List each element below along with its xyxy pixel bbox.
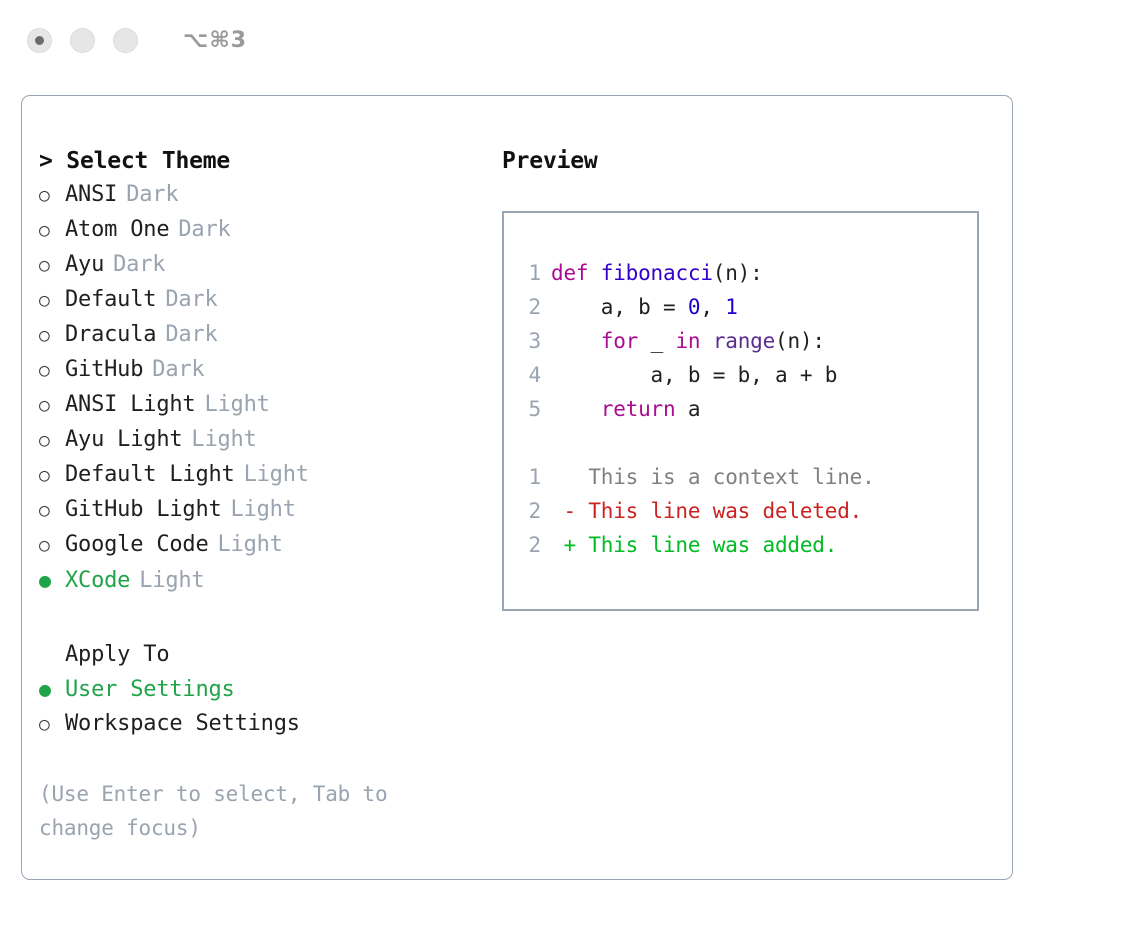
theme-option-label: Atom One: [65, 213, 169, 247]
theme-option-6[interactable]: ○ANSI LightLight: [39, 388, 502, 423]
theme-option-label: ANSI Light: [65, 388, 195, 422]
code-token: fibonacci: [601, 261, 713, 285]
apply-to-list[interactable]: ●User Settings○Workspace Settings: [39, 672, 502, 742]
radio-unselected-icon: ○: [39, 214, 65, 248]
code-line-number: 3: [504, 324, 551, 358]
radio-unselected-icon: ○: [39, 354, 65, 388]
preview-box: 1def fibonacci(n):2 a, b = 0, 13 for _ i…: [502, 211, 979, 611]
code-line-number: 1: [504, 256, 551, 290]
apply-to-header: Apply To: [39, 638, 502, 672]
code-line-number: 4: [504, 358, 551, 392]
code-diff-spacer: [504, 426, 977, 460]
theme-option-variant: Light: [235, 458, 309, 492]
window-dot-active-inner: [35, 36, 44, 45]
radio-unselected-icon: ○: [39, 424, 65, 458]
radio-unselected-icon: ○: [39, 389, 65, 423]
code-line-content: for _ in range(n):: [551, 324, 825, 358]
radio-unselected-icon: ○: [39, 494, 65, 528]
theme-selection-column: > Select Theme ○ANSIDark○Atom OneDark○Ay…: [22, 96, 502, 879]
apply-to-option-label: User Settings: [65, 673, 235, 707]
diff-line-number: 1: [504, 460, 551, 494]
code-token: 1: [725, 295, 737, 319]
theme-picker-panel: > Select Theme ○ANSIDark○Atom OneDark○Ay…: [21, 95, 1013, 880]
diff-preview: 1 This is a context line.2 - This line w…: [504, 460, 977, 562]
code-token: This is a context line.: [551, 465, 875, 489]
theme-option-label: XCode: [65, 564, 130, 598]
window-controls: [27, 28, 138, 53]
theme-option-variant: Light: [222, 493, 296, 527]
theme-option-7[interactable]: ○Ayu LightLight: [39, 423, 502, 458]
theme-option-label: GitHub: [65, 353, 143, 387]
window-dot-2-icon[interactable]: [70, 28, 95, 53]
code-token: [551, 329, 601, 353]
theme-option-variant: Light: [209, 528, 283, 562]
radio-unselected-icon: ○: [39, 284, 65, 318]
code-token: def: [551, 261, 601, 285]
code-token: in: [675, 329, 700, 353]
diff-line-0: 1 This is a context line.: [504, 460, 977, 494]
radio-selected-icon: ●: [39, 672, 65, 706]
theme-option-11[interactable]: ●XCodeLight: [39, 563, 502, 598]
diff-line-content: + This line was added.: [551, 528, 837, 562]
theme-option-label: GitHub Light: [65, 493, 222, 527]
code-token: (n):: [713, 261, 763, 285]
theme-option-3[interactable]: ○DefaultDark: [39, 283, 502, 318]
radio-unselected-icon: ○: [39, 529, 65, 563]
theme-option-4[interactable]: ○DraculaDark: [39, 318, 502, 353]
code-token: for: [601, 329, 638, 353]
code-token: - This line was deleted.: [551, 499, 862, 523]
preview-column: Preview 1def fibonacci(n):2 a, b = 0, 13…: [502, 96, 1012, 879]
code-line-number: 2: [504, 290, 551, 324]
code-token: return: [601, 397, 676, 421]
code-line-3: 4 a, b = b, a + b: [504, 358, 977, 392]
code-token: (n):: [775, 329, 825, 353]
theme-list[interactable]: ○ANSIDark○Atom OneDark○AyuDark○DefaultDa…: [39, 178, 502, 598]
code-line-1: 2 a, b = 0, 1: [504, 290, 977, 324]
code-token: a: [675, 397, 700, 421]
theme-option-variant: Dark: [143, 353, 204, 387]
diff-line-2: 2 + This line was added.: [504, 528, 977, 562]
theme-option-10[interactable]: ○Google CodeLight: [39, 528, 502, 563]
theme-option-label: Default Light: [65, 458, 235, 492]
section-spacer: [39, 598, 502, 638]
diff-line-number: 2: [504, 528, 551, 562]
code-line-number: 5: [504, 392, 551, 426]
keyboard-shortcut-label: ⌥⌘3: [183, 28, 247, 53]
theme-option-variant: Light: [195, 388, 269, 422]
code-line-2: 3 for _ in range(n):: [504, 324, 977, 358]
theme-option-variant: Dark: [169, 213, 230, 247]
code-token: [551, 397, 601, 421]
keyboard-hint: (Use Enter to select, Tab to change focu…: [39, 777, 439, 845]
code-token: _: [638, 329, 675, 353]
window-titlebar: ⌥⌘3: [0, 0, 1140, 80]
window-dot-3-icon[interactable]: [113, 28, 138, 53]
radio-unselected-icon: ○: [39, 708, 65, 742]
radio-unselected-icon: ○: [39, 459, 65, 493]
code-line-content: return a: [551, 392, 700, 426]
radio-unselected-icon: ○: [39, 249, 65, 283]
theme-option-label: Ayu: [65, 248, 104, 282]
code-line-content: a, b = 0, 1: [551, 290, 738, 324]
window-dot-active-icon[interactable]: [27, 28, 52, 53]
code-line-content: a, b = b, a + b: [551, 358, 837, 392]
code-token: a, b =: [551, 295, 688, 319]
code-line-content: def fibonacci(n):: [551, 256, 763, 290]
theme-option-2[interactable]: ○AyuDark: [39, 248, 502, 283]
theme-option-label: ANSI: [65, 178, 117, 212]
code-token: ,: [700, 295, 725, 319]
code-token: [700, 329, 712, 353]
code-line-4: 5 return a: [504, 392, 977, 426]
theme-option-variant: Dark: [104, 248, 165, 282]
theme-option-label: Dracula: [65, 318, 156, 352]
code-line-0: 1def fibonacci(n):: [504, 256, 977, 290]
theme-option-8[interactable]: ○Default LightLight: [39, 458, 502, 493]
theme-option-variant: Light: [182, 423, 256, 457]
code-token: + This line was added.: [551, 533, 837, 557]
code-preview: 1def fibonacci(n):2 a, b = 0, 13 for _ i…: [504, 256, 977, 426]
theme-option-9[interactable]: ○GitHub LightLight: [39, 493, 502, 528]
radio-unselected-icon: ○: [39, 179, 65, 213]
theme-option-label: Ayu Light: [65, 423, 182, 457]
preview-title: Preview: [502, 144, 1012, 178]
radio-unselected-icon: ○: [39, 319, 65, 353]
apply-to-option-0[interactable]: ●User Settings: [39, 672, 502, 707]
theme-option-5[interactable]: ○GitHubDark: [39, 353, 502, 388]
theme-option-0[interactable]: ○ANSIDark: [39, 178, 502, 213]
diff-line-content: - This line was deleted.: [551, 494, 862, 528]
theme-option-variant: Light: [130, 564, 204, 598]
code-token: range: [713, 329, 775, 353]
theme-option-variant: Dark: [117, 178, 178, 212]
select-theme-header: > Select Theme: [39, 144, 502, 178]
diff-line-1: 2 - This line was deleted.: [504, 494, 977, 528]
radio-selected-icon: ●: [39, 563, 65, 597]
theme-option-label: Default: [65, 283, 156, 317]
theme-option-variant: Dark: [156, 318, 217, 352]
apply-to-option-1[interactable]: ○Workspace Settings: [39, 707, 502, 742]
theme-option-1[interactable]: ○Atom OneDark: [39, 213, 502, 248]
code-token: a, b = b, a + b: [551, 363, 837, 387]
apply-to-option-label: Workspace Settings: [65, 707, 300, 741]
diff-line-content: This is a context line.: [551, 460, 875, 494]
code-token: 0: [688, 295, 700, 319]
diff-line-number: 2: [504, 494, 551, 528]
theme-option-label: Google Code: [65, 528, 209, 562]
theme-option-variant: Dark: [156, 283, 217, 317]
